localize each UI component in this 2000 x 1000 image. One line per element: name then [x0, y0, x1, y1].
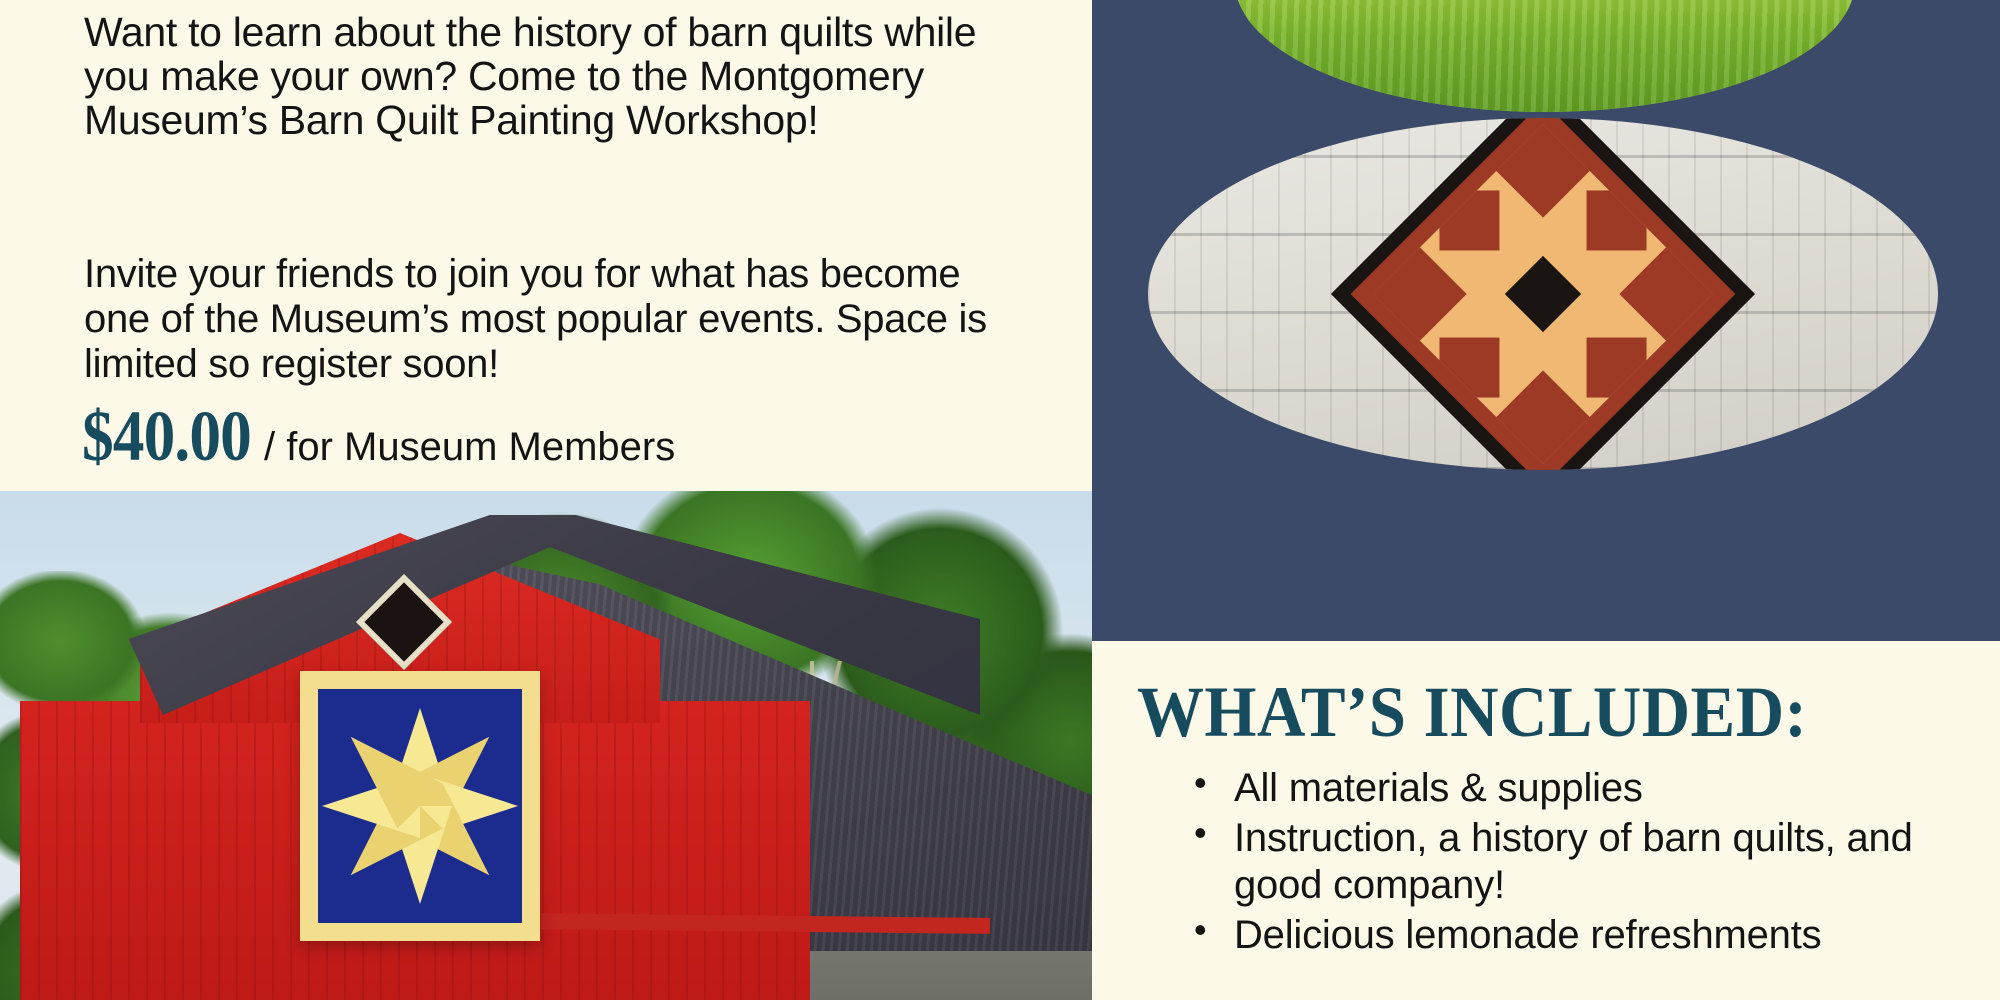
intro-text-panel: Want to learn about the history of barn …	[0, 0, 1092, 491]
quilt-notch-shape	[1587, 338, 1647, 398]
whats-included-heading: WHAT’S INCLUDED:	[1137, 671, 1807, 754]
intro-paragraph-1: Want to learn about the history of barn …	[84, 10, 1004, 142]
intro-paragraph-2: Invite your friends to join you for what…	[84, 252, 1004, 386]
barn-quilt-star-panel	[300, 671, 540, 941]
barn-field-oval-photo	[1235, 0, 1855, 112]
quilt-notch-shape	[1587, 190, 1647, 250]
quilt-corner-shape	[1496, 124, 1589, 217]
price-amount-members: $40.00	[82, 395, 251, 478]
price-label-members: / for Museum Members	[264, 425, 675, 470]
list-item: All materials & supplies	[1188, 765, 1988, 813]
price-row-members: $40.00 / for Museum Members	[82, 395, 675, 478]
navy-image-panel	[1092, 0, 2000, 641]
quilt-corner-shape	[1496, 370, 1589, 463]
quilt-center-square	[1505, 256, 1581, 332]
oval-crop-field	[1235, 0, 1855, 112]
barn-photo-panel	[0, 491, 1092, 1000]
red-barn-photo	[0, 491, 1092, 1000]
whats-included-panel: WHAT’S INCLUDED: All materials & supplie…	[1092, 641, 2000, 1000]
quilt-corner-shape	[1619, 247, 1712, 340]
quilt-notch-shape	[1439, 190, 1499, 250]
quilt-corner-shape	[1373, 247, 1466, 340]
quilt-notch-shape	[1439, 338, 1499, 398]
poster-canvas: Want to learn about the history of barn …	[0, 0, 2000, 1000]
list-item: Delicious lemonade refreshments	[1188, 912, 1988, 960]
whats-included-list: All materials & supplies Instruction, a …	[1188, 765, 1988, 961]
list-item: Instruction, a history of barn quilts, a…	[1188, 815, 1988, 910]
barn-quilt-diamond-oval-photo	[1148, 118, 1938, 470]
barn-quilt-field	[318, 689, 522, 923]
